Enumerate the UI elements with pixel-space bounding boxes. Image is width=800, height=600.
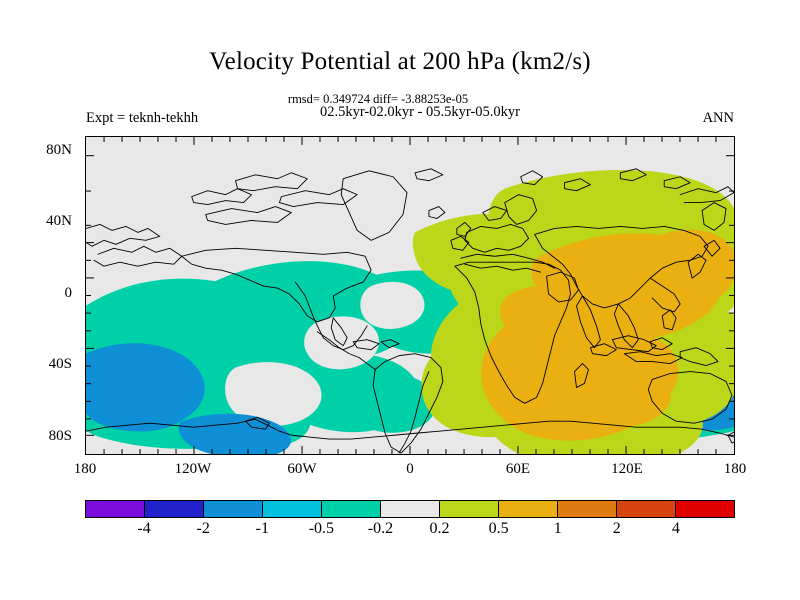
map-plot-area: [85, 136, 735, 455]
x-tick-label-180w: 180: [50, 461, 120, 478]
velocity-potential-figure: Velocity Potential at 200 hPa (km2/s) rm…: [0, 0, 800, 600]
y-tick-label-40s: 40S: [28, 356, 72, 373]
x-tick-label-60e: 60E: [483, 461, 553, 478]
y-tick-label-80s: 80S: [28, 428, 72, 445]
colorbar-tick-plus4: 4: [646, 520, 706, 538]
contour-map: [86, 137, 734, 454]
colorbar-cell-band-minus02-plus02: [381, 501, 440, 517]
colorbar-tick-minus4: -4: [114, 520, 174, 538]
colorbar-cell-band-plus05-plus1: [499, 501, 558, 517]
y-tick-label-0: 0: [28, 285, 72, 302]
colorbar-cell-band-minus1-minus05: [263, 501, 322, 517]
y-tick-label-80n: 80N: [28, 142, 72, 159]
colorbar-cell-band-lt-minus4: [86, 501, 145, 517]
experiment-label: Expt = teknh-tekhh: [86, 110, 198, 127]
colorbar-cells: [85, 500, 735, 518]
colorbar-tick-minus1: -1: [232, 520, 292, 538]
x-tick-label-180e: 180: [700, 461, 770, 478]
x-tick-label-120e: 120E: [592, 461, 662, 478]
colorbar-cell-band-gt-plus4: [676, 501, 734, 517]
y-tick-label-40n: 40N: [28, 213, 72, 230]
colorbar-tick-minus02: -0.2: [351, 520, 411, 538]
colorbar-tick-plus05: 0.5: [469, 520, 529, 538]
colorbar-cell-band-plus2-plus4: [617, 501, 676, 517]
colorbar: -4 -2 -1 -0.5 -0.2 0.2 0.5 1 2 4: [85, 500, 735, 518]
colorbar-cell-band-minus2-minus1: [204, 501, 263, 517]
colorbar-cell-band-plus1-plus2: [558, 501, 617, 517]
colorbar-tick-plus02: 0.2: [410, 520, 470, 538]
colorbar-tick-plus2: 2: [587, 520, 647, 538]
colorbar-cell-band-minus05-minus02: [322, 501, 381, 517]
x-tick-label-0: 0: [375, 461, 445, 478]
colorbar-tick-minus05: -0.5: [291, 520, 351, 538]
colorbar-tick-minus2: -2: [173, 520, 233, 538]
x-tick-label-120w: 120W: [158, 461, 228, 478]
season-label: ANN: [703, 110, 734, 127]
x-tick-label-60w: 60W: [267, 461, 337, 478]
colorbar-tick-plus1: 1: [528, 520, 588, 538]
colorbar-cell-band-plus02-plus05: [440, 501, 499, 517]
page-title: Velocity Potential at 200 hPa (km2/s): [0, 48, 800, 76]
colorbar-cell-band-minus4-minus2: [145, 501, 204, 517]
